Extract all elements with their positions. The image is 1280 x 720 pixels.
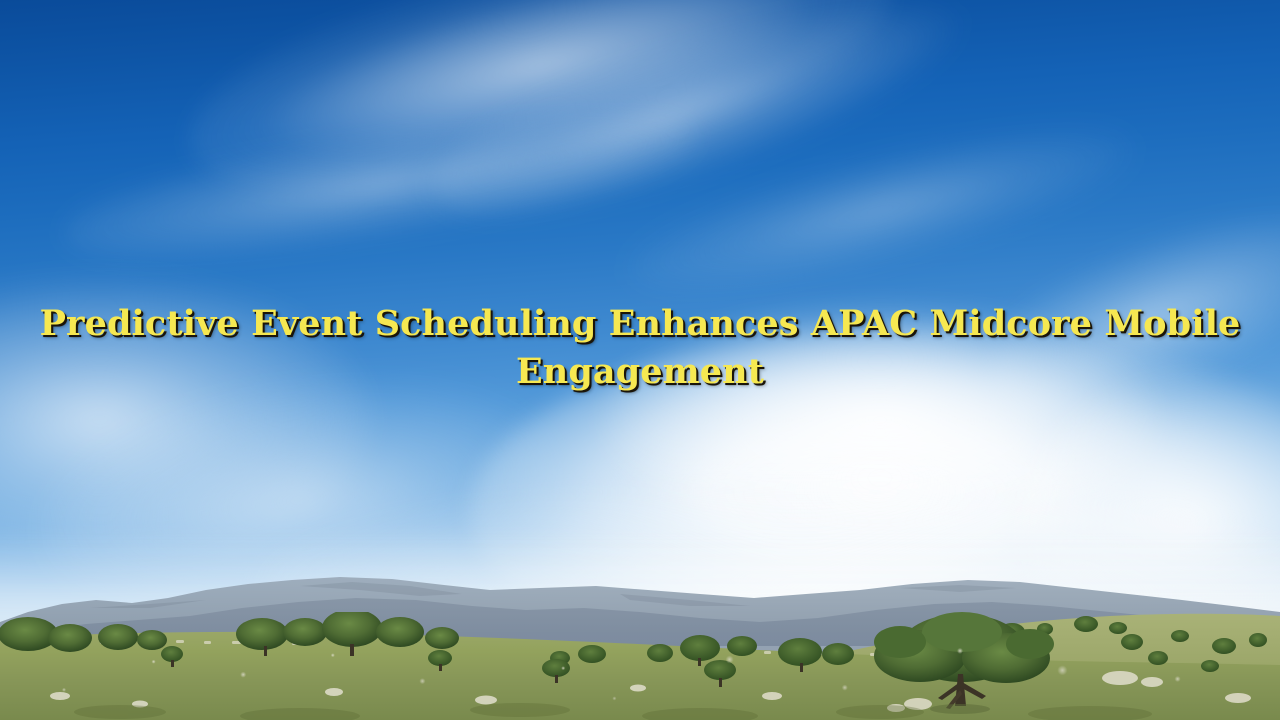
page-title: Predictive Event Scheduling Enhances APA…: [36, 300, 1244, 396]
grass-field: [0, 612, 1280, 720]
hero-banner: Predictive Event Scheduling Enhances APA…: [0, 0, 1280, 720]
headline-container: Predictive Event Scheduling Enhances APA…: [0, 300, 1280, 396]
